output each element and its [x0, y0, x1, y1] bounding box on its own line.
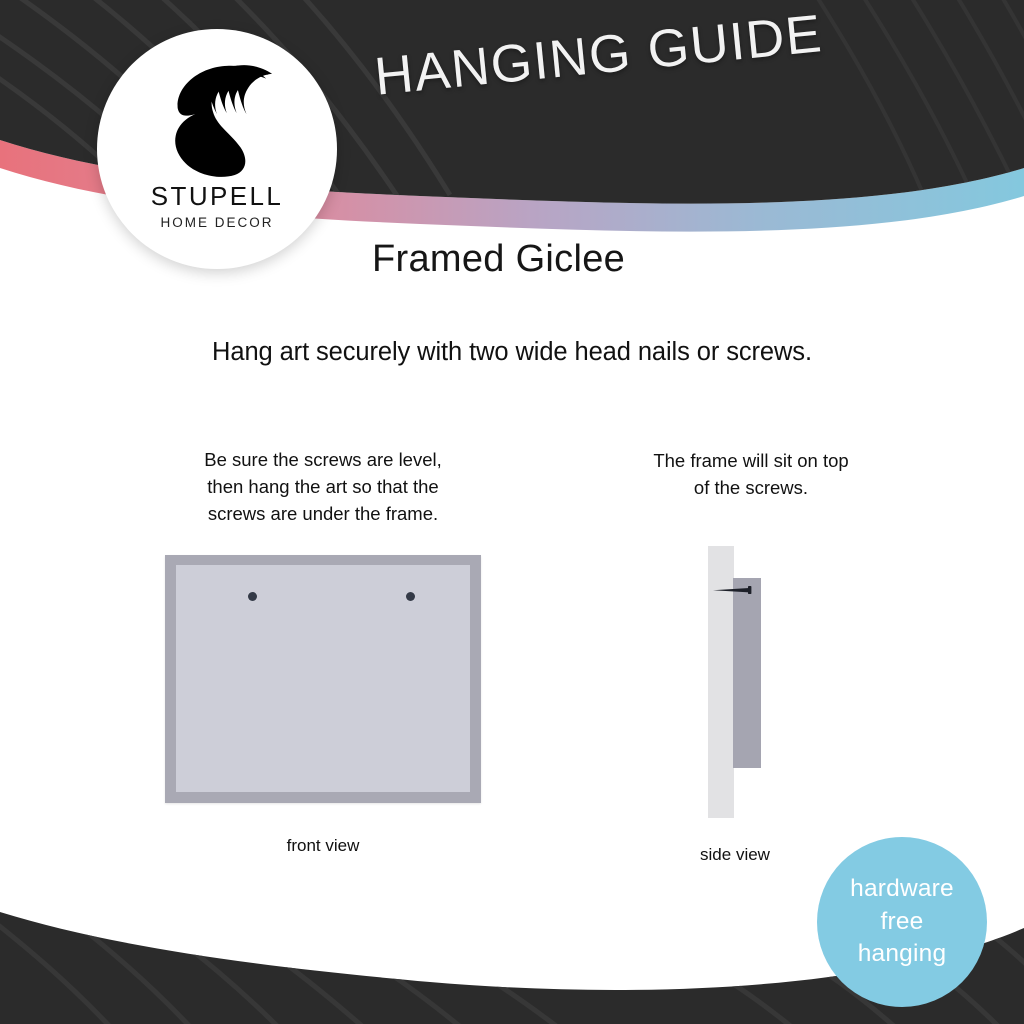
- screw-dot-left-icon: [248, 592, 257, 601]
- hardware-free-hanging-badge: hardware free hanging: [817, 837, 987, 1007]
- front-view-frame-diagram: [165, 555, 481, 803]
- brand-tagline: HOME DECOR: [160, 216, 273, 230]
- front-view-label: front view: [203, 836, 443, 856]
- screw-dot-right-icon: [406, 592, 415, 601]
- front-view-caption-line-3: screws are under the frame.: [163, 501, 483, 528]
- side-view-label: side view: [655, 845, 815, 865]
- product-type-label: Framed Giclee: [372, 238, 625, 281]
- stupell-swoosh-icon: [158, 57, 276, 179]
- main-instruction-text: Hang art securely with two wide head nai…: [0, 338, 1024, 367]
- badge-line-3: hanging: [858, 938, 947, 971]
- side-view-diagram: [708, 546, 788, 821]
- page-title: HANGING GUIDE: [372, 0, 895, 108]
- badge-line-2: free: [880, 906, 923, 939]
- brand-logo-badge: STUPELL HOME DECOR: [97, 29, 337, 269]
- front-view-caption: Be sure the screws are level, then hang …: [163, 447, 483, 527]
- side-view-caption-line-1: The frame will sit on top: [595, 448, 907, 475]
- side-view-caption: The frame will sit on top of the screws.: [595, 448, 907, 502]
- brand-name: STUPELL: [151, 183, 283, 209]
- side-view-frame: [733, 578, 761, 768]
- hanging-guide-page: HANGING GUIDE STUPELL HOME DECOR Framed …: [0, 0, 1024, 1024]
- nail-icon: [713, 586, 757, 594]
- front-view-caption-line-2: then hang the art so that the: [163, 474, 483, 501]
- front-view-mat: [176, 565, 470, 792]
- front-view-caption-line-1: Be sure the screws are level,: [163, 447, 483, 474]
- badge-line-1: hardware: [850, 873, 954, 906]
- side-view-caption-line-2: of the screws.: [595, 475, 907, 502]
